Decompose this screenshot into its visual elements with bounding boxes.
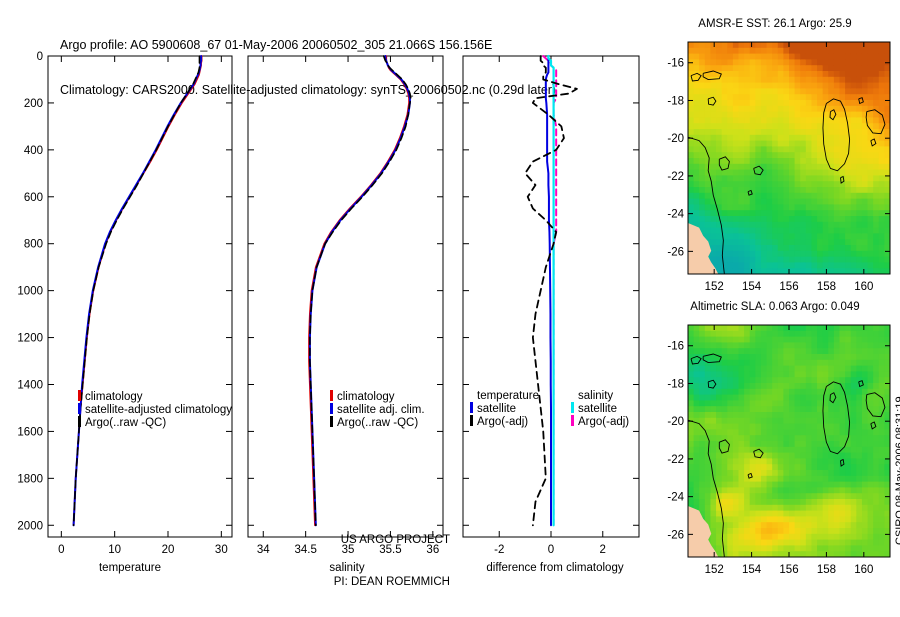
map-cell xyxy=(710,170,716,176)
map-cell xyxy=(834,199,840,205)
map-cell xyxy=(744,464,750,470)
map-cell xyxy=(772,210,778,216)
map-cell xyxy=(811,129,817,135)
map-cell xyxy=(767,470,773,476)
map-cell xyxy=(811,487,817,493)
map-cell xyxy=(868,429,874,435)
map-cell xyxy=(705,406,711,412)
map-cell xyxy=(705,141,711,147)
map-cell xyxy=(755,383,761,389)
map-cell xyxy=(862,210,868,216)
map-cell xyxy=(811,337,817,343)
map-cell xyxy=(817,83,823,89)
map-cell xyxy=(868,262,874,268)
map-cell xyxy=(828,424,834,430)
map-cell xyxy=(783,54,789,60)
map-cell xyxy=(800,325,806,331)
map-cell xyxy=(705,112,711,118)
map-cell xyxy=(834,499,840,505)
map-cell xyxy=(744,476,750,482)
map-cell xyxy=(817,424,823,430)
map-cell xyxy=(694,331,700,337)
map-cell xyxy=(834,65,840,71)
map-cell xyxy=(800,216,806,222)
map-cell xyxy=(856,412,862,418)
map-cell xyxy=(856,42,862,48)
map-cell xyxy=(811,152,817,158)
map-cell xyxy=(851,511,857,517)
map-cell xyxy=(873,170,879,176)
map-cell xyxy=(811,135,817,141)
map-cell xyxy=(694,383,700,389)
map-cell xyxy=(845,348,851,354)
map-cell xyxy=(744,342,750,348)
map-cell xyxy=(710,123,716,129)
map-cell xyxy=(772,228,778,234)
map-cell xyxy=(767,100,773,106)
map-cell xyxy=(722,135,728,141)
map-cell xyxy=(694,476,700,482)
map-cell xyxy=(840,476,846,482)
map-cell xyxy=(767,48,773,54)
map-cell xyxy=(840,146,846,152)
map-cell xyxy=(811,493,817,499)
difference-axis-label: difference from climatology xyxy=(460,562,650,574)
map-cell xyxy=(755,251,761,257)
map-cell xyxy=(879,435,885,441)
map-cell xyxy=(868,48,874,54)
map-cell xyxy=(750,83,756,89)
map-cell xyxy=(828,499,834,505)
map-cell xyxy=(772,424,778,430)
map-cell xyxy=(716,418,722,424)
map-cell xyxy=(879,204,885,210)
map-cell xyxy=(710,146,716,152)
map-cell xyxy=(778,458,784,464)
map-cell xyxy=(879,545,885,551)
map-cell xyxy=(767,65,773,71)
map-cell xyxy=(778,251,784,257)
map-cell xyxy=(778,354,784,360)
map-cell xyxy=(834,48,840,54)
map-cell xyxy=(851,65,857,71)
legend-swatch-salinity-satellite xyxy=(571,402,574,413)
map-cell xyxy=(755,435,761,441)
map-cell xyxy=(840,187,846,193)
map-cell xyxy=(722,424,728,430)
map-cell xyxy=(840,534,846,540)
map-cell xyxy=(828,42,834,48)
map-cell xyxy=(772,141,778,147)
map-cell xyxy=(705,135,711,141)
map-cell xyxy=(789,528,795,534)
map-cell xyxy=(761,389,767,395)
map-cell xyxy=(688,106,694,112)
difference-legend-salinity: salinity satellite Argo(-adj) xyxy=(571,390,629,428)
map-cell xyxy=(800,441,806,447)
map-cell xyxy=(795,458,801,464)
map-cell xyxy=(694,429,700,435)
map-cell xyxy=(845,482,851,488)
map-cell xyxy=(722,71,728,77)
map-cell xyxy=(767,424,773,430)
map-cell xyxy=(767,257,773,263)
map-cell xyxy=(811,146,817,152)
map-cell xyxy=(750,42,756,48)
map-cell xyxy=(800,88,806,94)
map-cell xyxy=(783,239,789,245)
map-cell xyxy=(840,540,846,546)
map-cell xyxy=(856,175,862,181)
map-cell xyxy=(744,193,750,199)
map-cell xyxy=(722,239,728,245)
map-cell xyxy=(755,406,761,412)
map-cell xyxy=(851,106,857,112)
map-x-tick-label: 160 xyxy=(854,281,873,293)
map-cell xyxy=(873,146,879,152)
map-cell xyxy=(755,262,761,268)
x-tick-label: -2 xyxy=(494,544,504,556)
map-cell xyxy=(879,424,885,430)
map-cell xyxy=(750,528,756,534)
map-cell xyxy=(851,239,857,245)
map-cell xyxy=(744,42,750,48)
map-cell xyxy=(845,199,851,205)
map-cell xyxy=(772,71,778,77)
map-cell xyxy=(879,522,885,528)
map-cell xyxy=(694,348,700,354)
map-cell xyxy=(739,257,745,263)
map-cell xyxy=(722,48,728,54)
map-cell xyxy=(806,540,812,546)
map-cell xyxy=(716,135,722,141)
map-cell xyxy=(795,228,801,234)
map-cell xyxy=(694,42,700,48)
map-cell xyxy=(879,71,885,77)
map-cell xyxy=(699,48,705,54)
map-cell xyxy=(744,228,750,234)
map-cell xyxy=(727,83,733,89)
map-cell xyxy=(811,325,817,331)
map-cell xyxy=(772,342,778,348)
map-cell xyxy=(806,389,812,395)
map-cell xyxy=(727,129,733,135)
map-cell xyxy=(733,181,739,187)
map-cell xyxy=(688,187,694,193)
map-cell xyxy=(733,77,739,83)
map-cell xyxy=(828,245,834,251)
map-cell xyxy=(800,175,806,181)
map-cell xyxy=(733,516,739,522)
map-cell xyxy=(828,257,834,263)
map-cell xyxy=(783,540,789,546)
map-cell xyxy=(828,48,834,54)
map-cell xyxy=(851,325,857,331)
map-cell xyxy=(761,88,767,94)
map-cell xyxy=(750,540,756,546)
map-cell xyxy=(716,516,722,522)
map-cell xyxy=(767,210,773,216)
map-cell xyxy=(744,65,750,71)
map-cell xyxy=(778,435,784,441)
map-cell xyxy=(727,516,733,522)
map-cell xyxy=(778,228,784,234)
map-cell xyxy=(699,158,705,164)
map-cell xyxy=(834,528,840,534)
map-cell xyxy=(688,83,694,89)
map-cell xyxy=(710,251,716,257)
map-cell xyxy=(879,470,885,476)
map-cell xyxy=(778,395,784,401)
legend-label: Argo(-adj) xyxy=(578,416,629,428)
temperature-legend: climatology satellite-adjusted climatolo… xyxy=(78,390,238,429)
map-cell xyxy=(868,94,874,100)
map-cell xyxy=(834,228,840,234)
map-cell xyxy=(722,331,728,337)
map-cell xyxy=(862,429,868,435)
legend-label: Argo(..raw -QC) xyxy=(85,417,166,429)
map-cell xyxy=(800,146,806,152)
map-cell xyxy=(851,383,857,389)
map-cell xyxy=(823,239,829,245)
map-cell xyxy=(705,511,711,517)
map-cell xyxy=(722,418,728,424)
map-cell xyxy=(873,222,879,228)
map-cell xyxy=(834,534,840,540)
map-cell xyxy=(879,175,885,181)
map-cell xyxy=(755,94,761,100)
map-cell xyxy=(873,117,879,123)
map-cell xyxy=(823,83,829,89)
map-cell xyxy=(789,48,795,54)
map-cell xyxy=(828,366,834,372)
map-cell xyxy=(856,152,862,158)
map-cell xyxy=(750,199,756,205)
map-cell xyxy=(739,199,745,205)
map-cell xyxy=(795,505,801,511)
map-cell xyxy=(767,534,773,540)
map-cell xyxy=(834,412,840,418)
map-cell xyxy=(851,146,857,152)
map-cell xyxy=(783,170,789,176)
map-cell xyxy=(727,71,733,77)
map-cell xyxy=(856,65,862,71)
map-cell xyxy=(778,88,784,94)
map-cell xyxy=(772,59,778,65)
map-cell xyxy=(783,458,789,464)
map-cell xyxy=(800,94,806,100)
map-cell xyxy=(795,464,801,470)
map-cell xyxy=(868,371,874,377)
map-cell xyxy=(851,262,857,268)
map-cell xyxy=(828,325,834,331)
map-cell xyxy=(750,88,756,94)
map-cell xyxy=(789,88,795,94)
map-cell xyxy=(716,170,722,176)
map-cell xyxy=(694,187,700,193)
map-cell xyxy=(834,233,840,239)
map-cell xyxy=(778,540,784,546)
map-cell xyxy=(873,400,879,406)
map-cell xyxy=(750,158,756,164)
map-cell xyxy=(840,505,846,511)
map-cell xyxy=(767,325,773,331)
map-cell xyxy=(817,325,823,331)
map-cell xyxy=(795,170,801,176)
map-cell xyxy=(767,175,773,181)
map-cell xyxy=(750,216,756,222)
map-cell xyxy=(823,123,829,129)
map-cell xyxy=(823,453,829,459)
map-cell xyxy=(868,65,874,71)
map-cell xyxy=(800,170,806,176)
map-cell xyxy=(750,505,756,511)
map-cell xyxy=(710,360,716,366)
map-cell xyxy=(783,204,789,210)
map-cell xyxy=(873,123,879,129)
map-cell xyxy=(845,42,851,48)
map-cell xyxy=(817,441,823,447)
map-cell xyxy=(699,400,705,406)
map-cell xyxy=(840,331,846,337)
map-x-tick-label: 154 xyxy=(742,281,762,293)
map-cell xyxy=(834,348,840,354)
map-cell xyxy=(806,158,812,164)
map-cell xyxy=(828,216,834,222)
map-cell xyxy=(739,228,745,234)
map-cell xyxy=(716,42,722,48)
map-cell xyxy=(699,389,705,395)
map-cell xyxy=(823,470,829,476)
map-cell xyxy=(817,187,823,193)
map-cell xyxy=(851,453,857,459)
map-cell xyxy=(778,239,784,245)
map-cell xyxy=(778,342,784,348)
map-cell xyxy=(811,522,817,528)
map-cell xyxy=(823,482,829,488)
map-cell xyxy=(750,400,756,406)
map-cell xyxy=(817,210,823,216)
map-cell xyxy=(705,441,711,447)
map-cell xyxy=(727,360,733,366)
map-cell xyxy=(722,123,728,129)
map-cell xyxy=(879,181,885,187)
map-cell xyxy=(688,487,694,493)
map-cell xyxy=(722,453,728,459)
map-cell xyxy=(705,123,711,129)
map-cell xyxy=(795,193,801,199)
map-cell xyxy=(823,181,829,187)
map-cell xyxy=(688,141,694,147)
map-cell xyxy=(856,447,862,453)
map-cell xyxy=(868,487,874,493)
map-cell xyxy=(744,325,750,331)
map-cell xyxy=(789,487,795,493)
map-cell xyxy=(722,181,728,187)
map-cell xyxy=(823,354,829,360)
map-cell xyxy=(722,59,728,65)
map-cell xyxy=(778,77,784,83)
map-cell xyxy=(828,371,834,377)
map-cell xyxy=(862,470,868,476)
map-cell xyxy=(856,354,862,360)
map-cell xyxy=(739,48,745,54)
map-cell xyxy=(783,534,789,540)
map-cell xyxy=(873,88,879,94)
map-cell xyxy=(778,112,784,118)
map-cell xyxy=(705,187,711,193)
map-cell xyxy=(727,204,733,210)
map-cell xyxy=(879,441,885,447)
map-cell xyxy=(840,257,846,263)
map-cell xyxy=(778,199,784,205)
map-cell xyxy=(817,522,823,528)
map-cell xyxy=(789,216,795,222)
map-cell xyxy=(840,377,846,383)
map-cell xyxy=(823,342,829,348)
map-cell xyxy=(800,181,806,187)
map-cell xyxy=(783,545,789,551)
map-cell xyxy=(783,71,789,77)
map-cell xyxy=(727,245,733,251)
map-cell xyxy=(800,129,806,135)
map-cell xyxy=(873,371,879,377)
map-cell xyxy=(845,245,851,251)
map-cell xyxy=(840,222,846,228)
map-cell xyxy=(817,499,823,505)
map-cell xyxy=(727,65,733,71)
map-cell xyxy=(744,146,750,152)
map-cell xyxy=(688,112,694,118)
map-cell xyxy=(688,94,694,100)
map-y-tick-label: -20 xyxy=(667,133,684,145)
map-cell xyxy=(795,164,801,170)
map-cell xyxy=(800,239,806,245)
map-cell xyxy=(806,216,812,222)
map-cell xyxy=(873,325,879,331)
map-cell xyxy=(772,395,778,401)
map-cell xyxy=(755,470,761,476)
map-cell xyxy=(688,482,694,488)
map-cell xyxy=(800,83,806,89)
map-cell xyxy=(828,65,834,71)
map-cell xyxy=(767,71,773,77)
map-cell xyxy=(722,210,728,216)
map-cell xyxy=(710,106,716,112)
map-cell xyxy=(811,534,817,540)
map-cell xyxy=(705,59,711,65)
difference-legend-temperature: temperature satellite Argo(-adj) xyxy=(470,390,539,428)
map-cell xyxy=(879,354,885,360)
map-cell xyxy=(834,152,840,158)
map-cell xyxy=(722,100,728,106)
map-cell xyxy=(828,152,834,158)
map-cell xyxy=(778,470,784,476)
map-cell xyxy=(727,187,733,193)
map-cell xyxy=(806,94,812,100)
map-cell xyxy=(840,245,846,251)
map-cell xyxy=(862,464,868,470)
map-cell xyxy=(722,83,728,89)
map-cell xyxy=(750,447,756,453)
map-cell xyxy=(834,123,840,129)
map-cell xyxy=(750,257,756,263)
map-cell xyxy=(761,146,767,152)
map-cell xyxy=(755,545,761,551)
map-cell xyxy=(750,476,756,482)
map-cell xyxy=(688,464,694,470)
map-cell xyxy=(716,94,722,100)
